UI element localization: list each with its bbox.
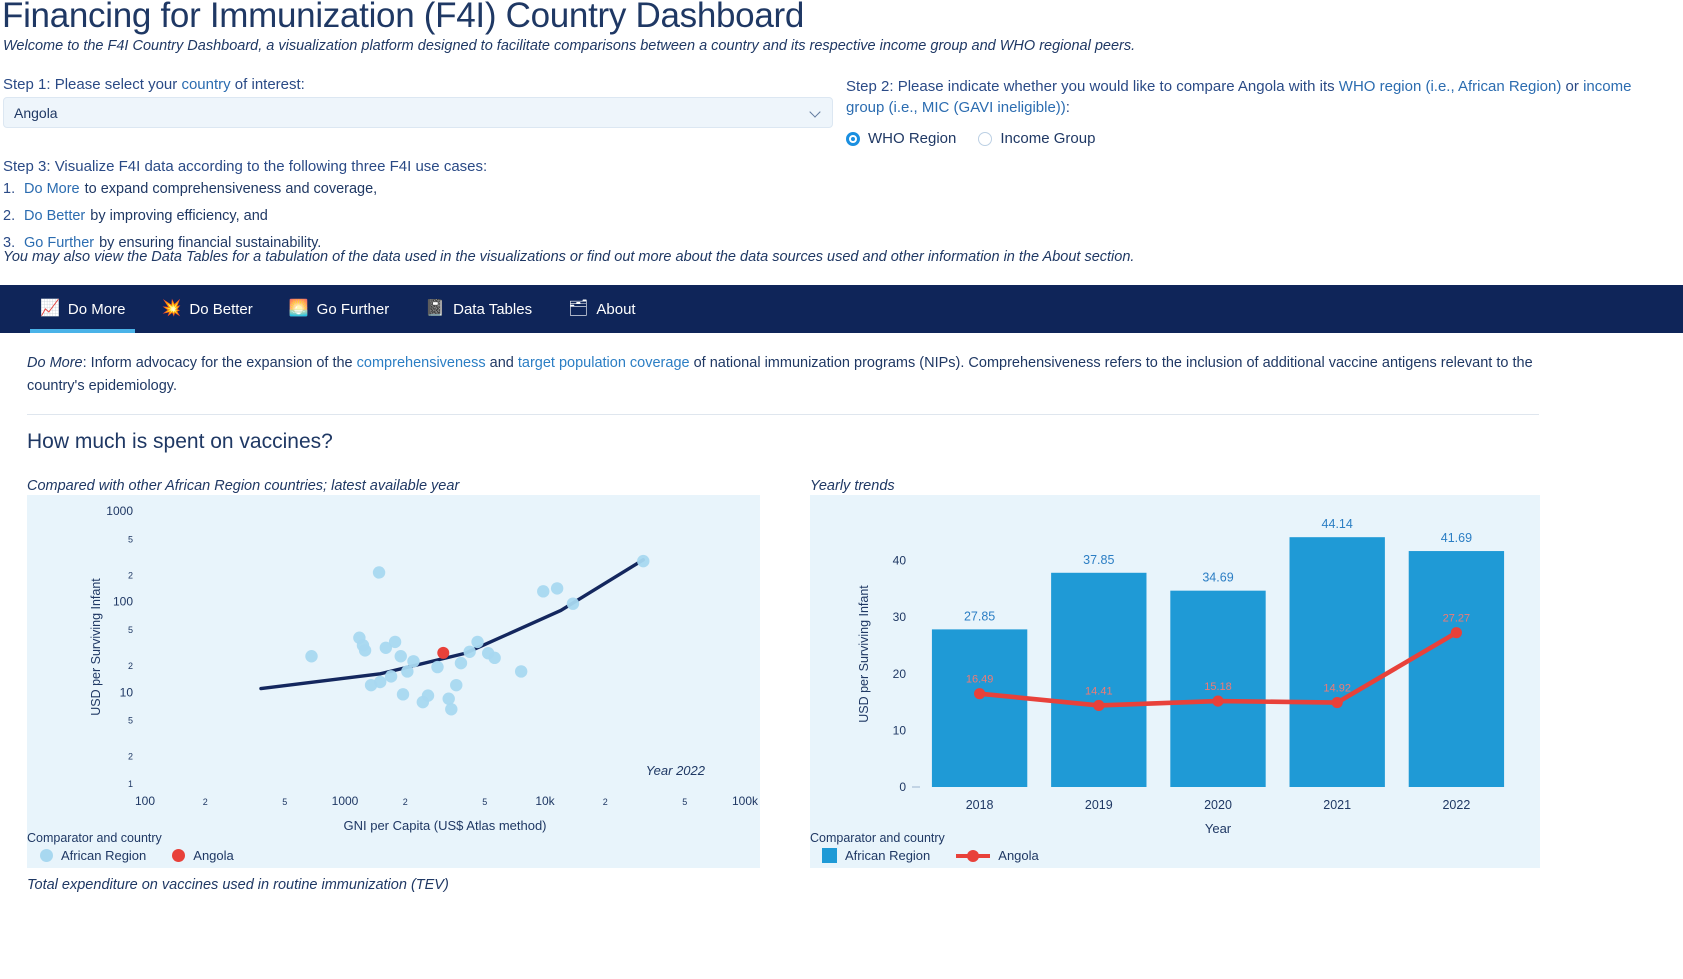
- intro-text-b: and: [486, 355, 518, 371]
- legend-circle-icon: [40, 849, 53, 862]
- step1-label-post: of interest:: [231, 76, 305, 93]
- scatter-chart-panel: 10005210052105211002510002510k25100kUSD …: [27, 495, 760, 868]
- use-case-text: to expand comprehensiveness and coverage…: [85, 181, 378, 197]
- step1-label-highlight: country: [181, 76, 230, 93]
- intro-highlight-comprehensiveness: comprehensiveness: [357, 355, 486, 371]
- radio-income-group-dot: [978, 132, 992, 146]
- intro-paragraph: Do More: Inform advocacy for the expansi…: [27, 352, 1537, 398]
- svg-text:27.27: 27.27: [1443, 613, 1471, 625]
- page-title: Financing for Immunization (F4I) Country…: [2, 0, 804, 36]
- svg-text:41.69: 41.69: [1441, 531, 1472, 545]
- svg-text:15.18: 15.18: [1204, 681, 1232, 693]
- svg-text:2: 2: [403, 797, 408, 807]
- step2-text-c: :: [1066, 99, 1070, 116]
- step3-label: Step 3: Visualize F4I data according to …: [3, 158, 487, 175]
- svg-text:5: 5: [128, 716, 133, 726]
- scatter-chart-caption: Compared with other African Region count…: [27, 478, 459, 494]
- use-case-text: by improving efficiency, and: [90, 208, 268, 224]
- svg-text:10: 10: [120, 685, 134, 699]
- svg-text:Year 2022: Year 2022: [646, 763, 706, 778]
- scatter-chart-svg: 10005210052105211002510002510k25100kUSD …: [27, 495, 760, 868]
- use-case-link-do-more[interactable]: Do More: [24, 181, 80, 197]
- svg-text:1: 1: [128, 779, 133, 789]
- svg-text:30: 30: [893, 610, 907, 624]
- scatter-chart-footer: Total expenditure on vaccines used in ro…: [27, 877, 449, 893]
- scatter-legend-comparator-label: African Region: [61, 848, 146, 863]
- svg-text:2019: 2019: [1085, 798, 1113, 812]
- radio-who-region-label: WHO Region: [868, 130, 956, 147]
- step2-text-a: Step 2: Please indicate whether you woul…: [846, 78, 1339, 95]
- intro-text-a: : Inform advocacy for the expansion of t…: [83, 355, 357, 371]
- svg-text:44.14: 44.14: [1322, 517, 1353, 531]
- svg-text:5: 5: [282, 797, 287, 807]
- main-tab-bar[interactable]: 📈 Do More 💥 Do Better 🌅 Go Further 📓 Dat…: [0, 285, 1683, 333]
- bar-legend-title: Comparator and country: [810, 831, 945, 845]
- bar-legend-comparator[interactable]: African Region: [822, 848, 930, 863]
- sunrise-icon: 🌅: [289, 301, 309, 317]
- scatter-legend-title: Comparator and country: [27, 831, 162, 845]
- scatter-legend: African Region Angola: [40, 848, 234, 863]
- tab-data-tables-label: Data Tables: [453, 301, 532, 318]
- bar-chart-caption: Yearly trends: [810, 478, 895, 494]
- svg-text:2022: 2022: [1442, 798, 1470, 812]
- tab-about-label: About: [596, 301, 635, 318]
- svg-text:20: 20: [893, 667, 907, 681]
- bar-chart-panel: 01020304027.85201837.85201934.69202044.1…: [810, 495, 1540, 868]
- bar-legend-country[interactable]: Angola: [956, 848, 1038, 863]
- scatter-legend-country[interactable]: Angola: [172, 848, 233, 863]
- bar-legend-country-label: Angola: [998, 848, 1038, 863]
- use-case-item-do-better: 2. Do Better by improving efficiency, an…: [3, 208, 377, 224]
- section-heading: How much is spent on vaccines?: [27, 430, 333, 454]
- svg-text:100: 100: [113, 595, 133, 609]
- svg-text:14.41: 14.41: [1085, 685, 1113, 697]
- comparator-radio-group[interactable]: WHO Region Income Group: [846, 130, 1095, 147]
- svg-text:100k: 100k: [732, 794, 759, 808]
- bar-legend: African Region Angola: [822, 848, 1039, 863]
- collision-icon: 💥: [161, 301, 181, 317]
- step2-text-b: or: [1561, 78, 1583, 95]
- svg-text:10k: 10k: [535, 794, 555, 808]
- country-select-value: Angola: [14, 105, 810, 121]
- dashboard-page: Financing for Immunization (F4I) Country…: [0, 0, 1683, 979]
- svg-text:27.85: 27.85: [964, 609, 995, 623]
- bar-legend-comparator-label: African Region: [845, 848, 930, 863]
- legend-circle-icon: [172, 849, 185, 862]
- svg-text:37.85: 37.85: [1083, 553, 1114, 567]
- tab-data-tables[interactable]: 📓 Data Tables: [407, 285, 550, 333]
- svg-text:2: 2: [128, 570, 133, 580]
- step2-who-region-highlight: WHO region (i.e., African Region): [1339, 78, 1562, 95]
- radio-who-region[interactable]: WHO Region: [846, 130, 956, 147]
- svg-text:14.92: 14.92: [1323, 683, 1351, 695]
- svg-text:5: 5: [682, 797, 687, 807]
- use-case-number: 1.: [3, 181, 24, 197]
- section-divider: [27, 414, 1539, 415]
- scatter-legend-country-label: Angola: [193, 848, 233, 863]
- page-subtitle: Welcome to the F4I Country Dashboard, a …: [3, 38, 1135, 54]
- svg-text:5: 5: [482, 797, 487, 807]
- svg-text:2021: 2021: [1323, 798, 1351, 812]
- svg-text:2: 2: [603, 797, 608, 807]
- svg-text:100: 100: [135, 794, 155, 808]
- chevron-down-icon: [810, 107, 822, 119]
- intro-highlight-coverage: target population coverage: [518, 355, 690, 371]
- use-case-number: 2.: [3, 208, 24, 224]
- radio-income-group-label: Income Group: [1000, 130, 1095, 147]
- chart-increasing-icon: 📈: [40, 301, 60, 317]
- svg-text:2: 2: [203, 797, 208, 807]
- radio-income-group[interactable]: Income Group: [978, 130, 1095, 147]
- scroll-icon: 🗂: [568, 301, 588, 317]
- svg-text:2020: 2020: [1204, 798, 1232, 812]
- use-case-link-do-better[interactable]: Do Better: [24, 208, 85, 224]
- books-icon: 📓: [425, 301, 445, 317]
- svg-text:1000: 1000: [332, 794, 359, 808]
- step1-label-pre: Step 1: Please select your: [3, 76, 181, 93]
- tab-about[interactable]: 🗂 About: [550, 285, 654, 333]
- legend-line-marker-icon: [956, 849, 990, 862]
- svg-text:2: 2: [128, 752, 133, 762]
- svg-text:2018: 2018: [966, 798, 994, 812]
- tab-do-more[interactable]: 📈 Do More: [22, 285, 143, 333]
- use-case-item-do-more: 1. Do More to expand comprehensiveness a…: [3, 181, 377, 197]
- svg-text:2: 2: [128, 661, 133, 671]
- tab-do-better-label: Do Better: [189, 301, 252, 318]
- svg-text:16.49: 16.49: [966, 674, 994, 686]
- intro-emphasis: Do More: [27, 355, 83, 371]
- step2-label: Step 2: Please indicate whether you woul…: [846, 76, 1666, 118]
- step1-label: Step 1: Please select your country of in…: [3, 76, 305, 93]
- scatter-legend-comparator[interactable]: African Region: [40, 848, 146, 863]
- svg-text:5: 5: [128, 625, 133, 635]
- svg-text:Year: Year: [1205, 821, 1232, 836]
- tab-go-further-label: Go Further: [317, 301, 390, 318]
- country-select[interactable]: Angola: [3, 97, 833, 128]
- tab-do-more-label: Do More: [68, 301, 126, 318]
- svg-text:10: 10: [893, 723, 907, 737]
- svg-text:5: 5: [128, 534, 133, 544]
- legend-square-icon: [822, 848, 837, 863]
- svg-text:USD per Surviving Infant: USD per Surviving Infant: [89, 578, 103, 716]
- svg-text:34.69: 34.69: [1202, 571, 1233, 585]
- svg-text:1000: 1000: [106, 504, 133, 518]
- bar-chart-svg: 01020304027.85201837.85201934.69202044.1…: [810, 495, 1540, 868]
- radio-who-region-dot: [846, 132, 860, 146]
- tab-do-better[interactable]: 💥 Do Better: [143, 285, 270, 333]
- tab-go-further[interactable]: 🌅 Go Further: [271, 285, 407, 333]
- svg-text:40: 40: [893, 554, 907, 568]
- data-tables-note: You may also view the Data Tables for a …: [3, 249, 1134, 265]
- svg-text:USD per Surviving Infant: USD per Surviving Infant: [857, 585, 871, 723]
- svg-text:0: 0: [899, 780, 906, 794]
- svg-text:GNI per Capita (US$ Atlas meth: GNI per Capita (US$ Atlas method): [343, 818, 546, 833]
